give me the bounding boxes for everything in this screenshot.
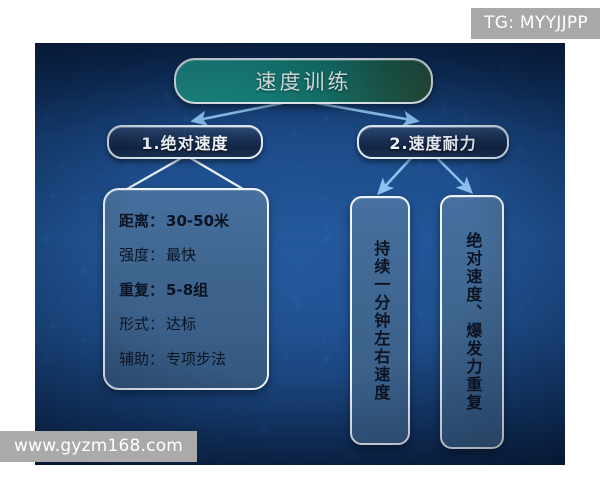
telegram-watermark-badge: TG: MYYJJPP [471, 8, 600, 39]
vertical-box-duration: 持续一分钟左右速度 [350, 196, 410, 445]
vertical-box-text: 绝对速度、爆发力重复 [464, 232, 481, 412]
detail-row: 距离 ： 30-50米 [105, 210, 267, 231]
arrow-right-node-to-box2 [435, 156, 471, 192]
detail-row-value: 达标 [166, 313, 196, 334]
detail-row-value: 最快 [166, 244, 196, 265]
detail-row: 辅助 ： 专项步法 [105, 348, 267, 369]
arrow-right-node-to-box1 [379, 156, 413, 193]
detail-row: 形式 ： 达标 [105, 313, 267, 334]
detail-row-key: 形式 [119, 313, 149, 334]
detail-row-key: 强度 [119, 244, 149, 265]
detail-row-separator: ： [149, 313, 164, 334]
detail-row: 强度 ： 最快 [105, 244, 267, 265]
detail-row-key: 重复 [119, 279, 149, 300]
slide-canvas: 速度训练 1.绝对速度 2.速度耐力 距离 ： 30-50米 强度 ： 最快 重… [35, 43, 565, 465]
branch-node-label: 2.速度耐力 [389, 130, 476, 154]
detail-row-separator: ： [149, 244, 164, 265]
detail-row-separator: ： [149, 210, 164, 231]
line-left-node-to-box [127, 156, 243, 189]
detail-row-value: 30-50米 [166, 210, 229, 231]
slide-title: 速度训练 [174, 58, 433, 104]
vertical-box-explosive-repeat: 绝对速度、爆发力重复 [440, 195, 504, 449]
site-watermark-badge: www.gyzm168.com [0, 431, 197, 462]
branch-node-speed-endurance[interactable]: 2.速度耐力 [357, 125, 509, 159]
branch-node-label: 1.绝对速度 [141, 130, 228, 154]
vertical-box-text: 持续一分钟左右速度 [372, 240, 389, 402]
detail-row-separator: ： [149, 348, 164, 369]
arrow-title-to-right [305, 101, 417, 121]
detail-row-key: 辅助 [119, 348, 149, 369]
detail-row: 重复 ： 5-8组 [105, 279, 267, 300]
detail-row-separator: ： [149, 279, 164, 300]
detail-row-key: 距离 [119, 210, 149, 231]
detail-row-value: 专项步法 [166, 348, 226, 369]
telegram-watermark-text: TG: MYYJJPP [484, 13, 588, 33]
detail-box-absolute-speed: 距离 ： 30-50米 强度 ： 最快 重复 ： 5-8组 形式 ： 达标 辅助… [103, 188, 269, 390]
detail-row-value: 5-8组 [166, 279, 208, 300]
slide-title-text: 速度训练 [256, 66, 352, 96]
branch-node-absolute-speed[interactable]: 1.绝对速度 [107, 125, 263, 159]
site-watermark-text: www.gyzm168.com [14, 436, 183, 456]
arrow-title-to-left [193, 101, 293, 121]
